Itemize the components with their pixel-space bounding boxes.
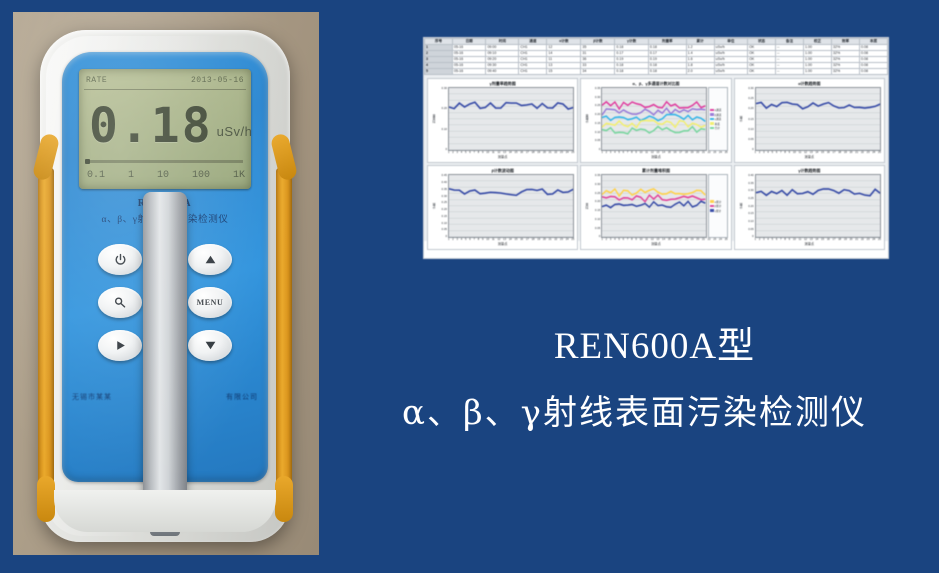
lcd-bargraph-marker xyxy=(85,159,90,164)
chart-y-tick: 0.15 xyxy=(590,122,600,125)
chart-y-tick: 0 xyxy=(590,235,600,238)
lcd-bargraph xyxy=(87,160,243,163)
chart-legend-swatch xyxy=(710,118,714,121)
chart-series-line xyxy=(756,189,880,196)
table-cell: 34 xyxy=(581,69,615,75)
chart-y-tick: 0.05 xyxy=(744,228,754,231)
chart-y-ticks: 0.400.350.300.250.200.150.100.050 xyxy=(744,174,755,238)
chart-x-axis-label: 测量点 xyxy=(431,155,574,160)
chart-y-tick: 0.25 xyxy=(744,97,754,100)
chart-y-tick: 0.25 xyxy=(590,104,600,107)
magnifier-icon xyxy=(113,296,127,309)
chart-y-tick: 0 xyxy=(437,148,447,151)
chart-legend-swatch xyxy=(710,113,714,116)
up-button[interactable] xyxy=(188,244,232,275)
chart-legend-swatch xyxy=(710,122,714,125)
table-cell: 0.08 xyxy=(859,69,887,75)
chart-card: 累计剂量堆积图剂量0.350.300.250.200.150.100.050α累… xyxy=(580,165,731,250)
hand-strap xyxy=(143,192,187,522)
table-row: 505-1609:40CH115340.180.182.0uSv/hOK--1.… xyxy=(425,69,888,75)
lcd-tick-4: 1K xyxy=(233,170,245,184)
table-cell: 0.18 xyxy=(615,69,648,75)
chart-y-tick: 0.30 xyxy=(437,87,447,90)
chart-legend-label: α通道 xyxy=(715,108,722,112)
chart-y-tick: 0.10 xyxy=(744,128,754,131)
lcd-screen: RATE 2013-05-16 0.18 uSv/h 0.1 1 10 100 … xyxy=(79,69,251,189)
chart-y-tick: 0.20 xyxy=(744,205,754,208)
search-button[interactable] xyxy=(98,287,142,318)
chart-series-line xyxy=(449,102,573,109)
chart-y-ticks: 0.300.200.100 xyxy=(437,87,448,151)
chart-y-ticks: 0.300.250.200.150.100.050 xyxy=(744,87,755,151)
chart-y-tick: 0 xyxy=(590,148,600,151)
chart-legend-label: 本底 xyxy=(715,122,720,126)
power-icon xyxy=(114,253,127,266)
table-cell: 5 xyxy=(425,69,453,75)
chart-y-tick: 0.05 xyxy=(590,227,600,230)
table-cell: 0.18 xyxy=(648,69,686,75)
chart-legend-label: β累计 xyxy=(715,204,722,208)
chart-legend-label: γ累计 xyxy=(715,209,721,213)
menu-button[interactable]: MENU xyxy=(188,287,232,318)
chart-y-tick: 0.30 xyxy=(744,87,754,90)
headline-block: REN600A型 α、β、γ射线表面污染检测仪 xyxy=(330,315,939,434)
chart-plot-area xyxy=(448,174,574,238)
chart-legend-item: 本底 xyxy=(710,122,726,126)
chart-y-tick: 0.10 xyxy=(590,218,600,221)
chart-y-ticks: 0.350.300.250.200.150.100.050 xyxy=(590,174,601,238)
chart-legend-label: β通道 xyxy=(715,113,722,117)
chart-card: α、β、γ多通道计数对比图计数率0.350.300.250.200.150.10… xyxy=(580,78,731,163)
chart-plot-area xyxy=(755,87,881,151)
chart-legend-item: α通道 xyxy=(710,108,726,112)
grip-cap-bottom-right xyxy=(275,476,293,522)
panel-mark-left: 无锡市某某 xyxy=(72,392,112,402)
lcd-status-bar: RATE 2013-05-16 xyxy=(86,73,244,87)
keypad-right-column: MENU xyxy=(178,244,242,376)
chart-legend: α累计β累计γ累计 xyxy=(708,174,728,238)
side-grip-left xyxy=(38,168,54,498)
product-description-heading: α、β、γ射线表面污染检测仪 xyxy=(330,385,939,434)
lcd-tick-3: 100 xyxy=(192,170,210,184)
chart-x-axis-label: 测量点 xyxy=(738,242,881,247)
chart-x-axis-label: 测量点 xyxy=(584,242,727,247)
chart-legend-swatch xyxy=(710,200,714,203)
chart-series-line xyxy=(602,108,705,115)
chart-card: γ计数趋势图计数0.400.350.300.250.200.150.100.05… xyxy=(734,165,885,250)
chart-plot-area xyxy=(448,87,574,151)
radiation-meter-device: RATE 2013-05-16 0.18 uSv/h 0.1 1 10 100 … xyxy=(40,30,290,542)
chart-legend-swatch xyxy=(710,205,714,208)
chart-series-line xyxy=(602,195,705,202)
lcd-reading: 0.18 uSv/h xyxy=(89,93,243,149)
chart-legend-item: γ累计 xyxy=(710,209,726,213)
chart-legend-item: β通道 xyxy=(710,113,726,117)
table-cell: 09:40 xyxy=(486,69,519,75)
lcd-value-number: 0.18 xyxy=(89,103,213,149)
chart-y-ticks: 0.450.400.350.300.250.200.150.100.050 xyxy=(437,174,448,238)
table-cell: 15 xyxy=(547,69,581,75)
lcd-tick-0: 0.1 xyxy=(87,170,105,184)
chart-y-tick: 0.10 xyxy=(744,220,754,223)
chart-y-tick: 0 xyxy=(744,148,754,151)
chart-y-tick: 0.10 xyxy=(590,131,600,134)
product-photo: RATE 2013-05-16 0.18 uSv/h 0.1 1 10 100 … xyxy=(13,12,319,555)
chart-y-tick: 0.10 xyxy=(437,128,447,131)
chart-legend-swatch xyxy=(710,127,714,130)
lcd-scale-ticks: 0.1 1 10 100 1K xyxy=(87,170,245,184)
chart-plot-area xyxy=(755,174,881,238)
table-cell: 2.0 xyxy=(686,69,714,75)
device-bottom-bezel xyxy=(54,490,276,532)
chart-y-tick: 0.35 xyxy=(744,182,754,185)
chart-y-tick: 0.20 xyxy=(437,107,447,110)
chart-y-ticks: 0.350.300.250.200.150.100.050 xyxy=(590,87,601,151)
chart-y-tick: 0.20 xyxy=(590,200,600,203)
chart-card: β计数波动图计数0.450.400.350.300.250.200.150.10… xyxy=(427,165,578,250)
chart-legend-label: γ通道 xyxy=(715,117,721,121)
chart-y-tick: 0 xyxy=(744,235,754,238)
grip-cap-bottom-left xyxy=(37,476,55,522)
down-button[interactable] xyxy=(188,330,232,361)
chart-series-line xyxy=(449,189,573,196)
chart-series-line xyxy=(756,102,880,109)
chart-plot-area xyxy=(601,174,706,238)
chart-y-tick: 0.15 xyxy=(590,209,600,212)
table-cell: OK xyxy=(748,69,776,75)
chart-y-tick: 0.40 xyxy=(437,181,447,184)
panel-mark-right: 有限公司 xyxy=(226,392,258,402)
table-cell: 32% xyxy=(831,69,859,75)
chart-series-line xyxy=(602,102,705,109)
chart-card: γ剂量率趋势图剂量率0.300.200.10012345678910111213… xyxy=(427,78,578,163)
play-button[interactable] xyxy=(98,330,142,361)
chart-y-tick: 0.35 xyxy=(590,174,600,177)
chart-y-tick: 0.25 xyxy=(437,201,447,204)
chart-card: α计数趋势图计数0.300.250.200.150.100.0501234567… xyxy=(734,78,885,163)
chart-y-tick: 0.20 xyxy=(744,107,754,110)
grip-cap-top-left xyxy=(32,133,61,182)
chart-y-tick: 0.30 xyxy=(744,189,754,192)
chart-y-tick: 0.25 xyxy=(744,197,754,200)
chart-y-axis-label: 剂量 xyxy=(584,174,590,238)
chart-y-tick: 0.15 xyxy=(744,118,754,121)
chart-series-line xyxy=(602,189,705,196)
chart-y-tick: 0.40 xyxy=(744,174,754,177)
chart-legend: α通道β通道γ通道本底合计 xyxy=(708,87,728,151)
chart-legend-label: 合计 xyxy=(715,126,720,130)
chart-y-tick: 0.05 xyxy=(590,139,600,142)
chart-y-axis-label: 计数率 xyxy=(584,87,590,151)
chart-series-line xyxy=(602,201,705,207)
chart-y-axis-label: 计数 xyxy=(431,174,437,238)
chart-plot-area xyxy=(601,87,706,151)
chart-x-axis-label: 测量点 xyxy=(584,155,727,160)
chart-x-axis-label: 测量点 xyxy=(738,155,881,160)
chart-y-tick: 0.30 xyxy=(590,183,600,186)
chart-legend-label: α累计 xyxy=(715,200,722,204)
chart-y-tick: 0.10 xyxy=(437,222,447,225)
chart-y-axis-label: 剂量率 xyxy=(431,87,437,151)
lcd-value-unit: uSv/h xyxy=(217,124,251,139)
table-cell: uSv/h xyxy=(714,69,747,75)
menu-button-label: MENU xyxy=(197,298,224,307)
lcd-mode-label: RATE xyxy=(86,76,107,85)
chart-y-tick: 0.05 xyxy=(744,138,754,141)
table-cell: -- xyxy=(776,69,804,75)
lcd-divider xyxy=(84,89,246,90)
chart-legend-swatch xyxy=(710,109,714,112)
power-button[interactable] xyxy=(98,244,142,275)
chart-y-tick: 0.35 xyxy=(590,87,600,90)
chart-y-axis-label: 计数 xyxy=(738,87,744,151)
table-cell: CH1 xyxy=(519,69,547,75)
lcd-date-label: 2013-05-16 xyxy=(191,76,244,85)
chart-legend-item: 合计 xyxy=(710,126,726,130)
chart-y-tick: 0.15 xyxy=(437,215,447,218)
chart-series-line xyxy=(602,120,705,127)
chart-y-tick: 0.15 xyxy=(744,212,754,215)
chart-x-axis-label: 测量点 xyxy=(431,242,574,247)
chart-y-tick: 0.45 xyxy=(437,174,447,177)
product-model-heading: REN600A型 xyxy=(330,315,939,369)
chart-grid: γ剂量率趋势图剂量率0.300.200.10012345678910111213… xyxy=(424,75,888,241)
lcd-tick-1: 1 xyxy=(128,170,134,184)
chart-y-tick: 0.20 xyxy=(437,208,447,211)
lcd-tick-2: 10 xyxy=(157,170,169,184)
chart-y-tick: 0.20 xyxy=(590,113,600,116)
chart-legend-swatch xyxy=(710,209,714,212)
software-screenshot: 序号日期时间通道α计数β计数γ计数剂量率累计单位状态备注校正效率本底 105-1… xyxy=(423,37,889,259)
chart-y-tick: 0.05 xyxy=(437,228,447,231)
chart-legend-item: α累计 xyxy=(710,200,726,204)
chart-y-tick: 0 xyxy=(437,235,447,238)
chart-y-tick: 0.25 xyxy=(590,192,600,195)
grip-cap-top-right xyxy=(270,133,299,182)
chart-series-line xyxy=(602,127,705,134)
play-icon xyxy=(114,339,127,352)
chart-y-tick: 0.30 xyxy=(590,96,600,99)
triangle-down-icon xyxy=(203,339,218,352)
chart-y-tick: 0.30 xyxy=(437,195,447,198)
table-cell: 1.00 xyxy=(804,69,832,75)
chart-legend-item: γ通道 xyxy=(710,117,726,121)
triangle-up-icon xyxy=(203,253,218,266)
chart-y-tick: 0.35 xyxy=(437,188,447,191)
chart-legend-item: β累计 xyxy=(710,204,726,208)
side-grip-right xyxy=(276,168,292,498)
table-cell: 05-16 xyxy=(452,69,485,75)
measurement-data-table: 序号日期时间通道α计数β计数γ计数剂量率累计单位状态备注校正效率本底 105-1… xyxy=(424,38,888,75)
chart-y-axis-label: 计数 xyxy=(738,174,744,238)
